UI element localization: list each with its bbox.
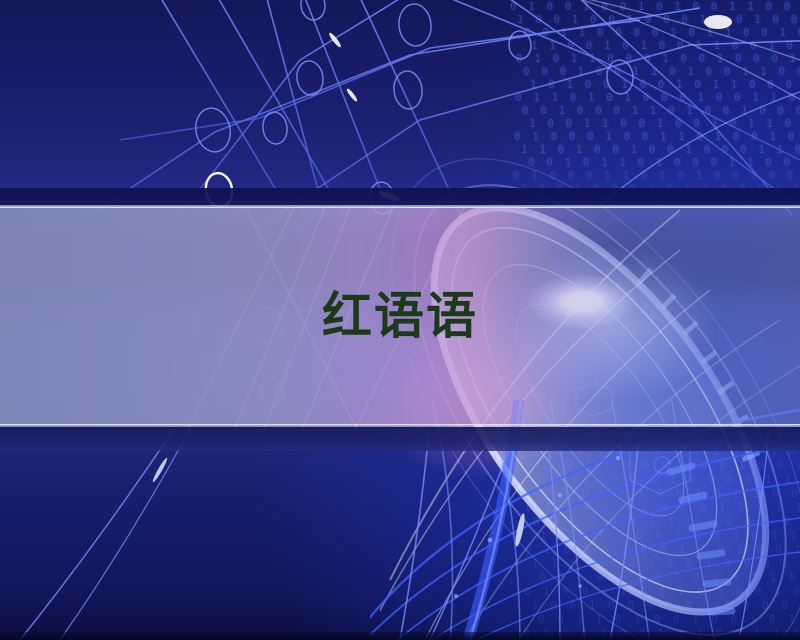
binary-row: 1 1 0 0 1 0 1 0 0 1 1 0 0 1 0 1 1 0 0 — [520, 445, 800, 459]
binary-row: 0 0 1 0 1 1 0 1 0 0 0 1 1 0 0 1 0 0 1 — [539, 571, 800, 585]
binary-row: 0 1 0 0 1 0 0 1 0 1 0 0 1 1 0 0 1 0 — [510, 0, 800, 13]
network-lines-graphic — [0, 0, 800, 215]
binary-row: 0 1 1 0 1 0 1 0 0 0 1 0 0 1 1 0 1 0 0 — [515, 91, 800, 104]
binary-row: 1 0 0 1 1 0 0 1 0 0 1 0 1 1 0 1 0 0 0 — [529, 117, 800, 130]
binary-row: 1 0 0 1 0 0 0 1 0 1 1 0 0 0 1 1 0 0 1 — [520, 182, 800, 195]
binary-row: 1 0 0 1 0 0 1 0 0 0 1 1 0 1 0 0 1 0 — [517, 13, 800, 26]
binary-digit-field: 0 1 0 0 1 0 0 1 0 1 0 0 1 1 0 0 1 01 0 0… — [510, 0, 800, 215]
binary-row: 1 0 1 0 0 1 0 0 1 0 1 1 0 0 0 1 0 0 1 — [530, 78, 800, 91]
binary-row: 0 1 0 0 0 1 1 0 1 0 1 0 0 1 0 0 1 1 0 — [513, 169, 800, 182]
binary-row: 0 0 1 0 0 0 1 1 0 1 0 0 1 0 0 0 1 1 0 — [533, 515, 800, 529]
network-node — [299, 0, 326, 21]
binary-row: 0 1 0 0 1 0 0 1 0 1 0 0 1 1 0 0 1 0 — [523, 627, 800, 640]
headline-container: 红语语 — [0, 207, 800, 425]
binary-row: 1 0 1 0 0 1 0 0 1 0 1 1 0 0 0 1 0 0 1 — [541, 487, 800, 501]
circuit-arcs-graphic — [370, 400, 800, 640]
binary-row: 1 1 0 0 1 0 1 0 0 1 1 0 0 1 0 1 1 0 0 — [531, 39, 800, 52]
binary-row: 0 0 0 1 0 0 1 1 0 1 0 0 1 1 0 0 1 0 0 — [534, 473, 800, 487]
wallpaper-canvas: 0 1 0 0 1 0 0 1 0 1 0 0 1 1 0 0 1 01 0 0… — [0, 0, 800, 640]
binary-row: 1 1 0 1 0 0 1 0 0 1 0 0 0 1 1 0 1 0 0 — [532, 557, 800, 571]
binary-row: 0 1 0 1 1 0 0 0 1 0 0 1 0 0 0 1 0 1 0 — [527, 459, 800, 473]
headline-text: 红语语 — [322, 291, 478, 341]
network-node — [295, 59, 325, 96]
binary-row: 0 0 1 1 0 0 0 0 1 0 1 1 0 0 1 0 0 0 1 — [524, 26, 800, 39]
light-rays-graphic — [0, 430, 800, 640]
band-dark-bottom — [0, 427, 800, 451]
binary-row: 0 0 1 0 1 1 0 1 0 0 0 1 1 0 0 1 0 0 1 — [528, 156, 800, 169]
binary-row: 0 0 0 1 0 0 1 1 0 1 0 0 1 1 0 0 1 0 0 — [523, 65, 800, 78]
binary-digit-field-lower: 1 1 0 0 1 0 1 0 0 1 1 0 0 1 0 1 1 0 00 1… — [520, 445, 800, 640]
binary-row: 0 1 0 0 0 1 0 0 1 1 0 1 0 0 1 0 0 1 1 — [525, 543, 800, 557]
binary-row: 0 1 0 0 0 1 1 0 1 0 1 0 0 1 0 0 1 1 0 — [524, 585, 800, 599]
binary-row: 0 0 1 1 0 1 0 0 1 0 0 1 0 1 0 0 0 1 0 — [538, 613, 800, 627]
network-node — [606, 59, 635, 95]
network-node — [261, 110, 289, 145]
band-dark-top — [0, 188, 800, 207]
binary-row: 0 0 1 0 0 0 1 1 0 1 0 0 1 0 0 0 1 1 0 — [522, 104, 800, 117]
binary-row: 0 1 0 1 1 0 0 0 1 0 0 1 0 0 0 1 0 1 0 — [516, 52, 800, 65]
binary-row: 0 1 1 0 1 0 1 0 0 0 1 0 0 1 1 0 1 0 0 — [526, 501, 800, 515]
network-node — [508, 30, 532, 60]
network-node — [192, 105, 234, 155]
network-node — [203, 171, 235, 209]
network-node — [397, 2, 433, 47]
canvas-bottom-edge — [0, 632, 800, 640]
binary-row: 1 0 0 1 0 0 0 1 0 1 1 0 0 0 1 1 0 0 1 — [531, 599, 800, 613]
binary-row: 1 1 0 1 0 0 1 0 0 1 0 0 0 1 1 0 1 0 0 — [521, 143, 800, 156]
network-node — [392, 70, 424, 111]
binary-row: 0 1 0 0 0 1 0 0 1 1 0 1 0 0 1 0 0 1 1 — [514, 130, 800, 143]
binary-row: 1 0 0 1 1 0 0 1 0 0 1 0 1 1 0 1 0 0 0 — [540, 529, 800, 543]
